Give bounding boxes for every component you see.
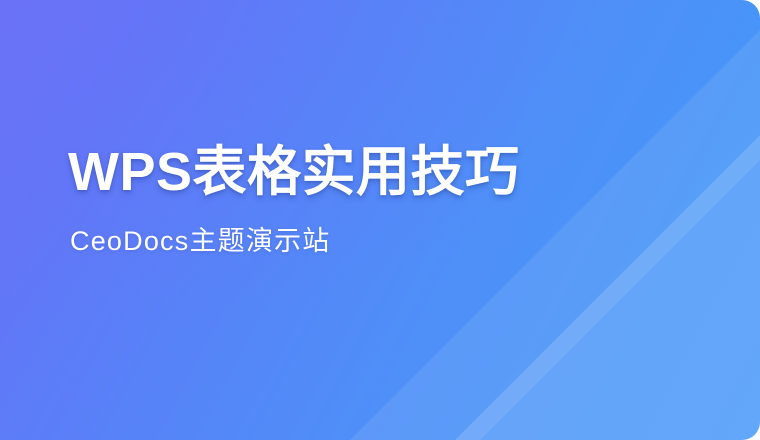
hero-text-block: WPS表格实用技巧 CeoDocs主题演示站 [68, 140, 520, 260]
hero-subtitle: CeoDocs主题演示站 [70, 222, 520, 260]
hero-banner: WPS表格实用技巧 CeoDocs主题演示站 [0, 0, 760, 440]
hero-title: WPS表格实用技巧 [68, 140, 520, 204]
